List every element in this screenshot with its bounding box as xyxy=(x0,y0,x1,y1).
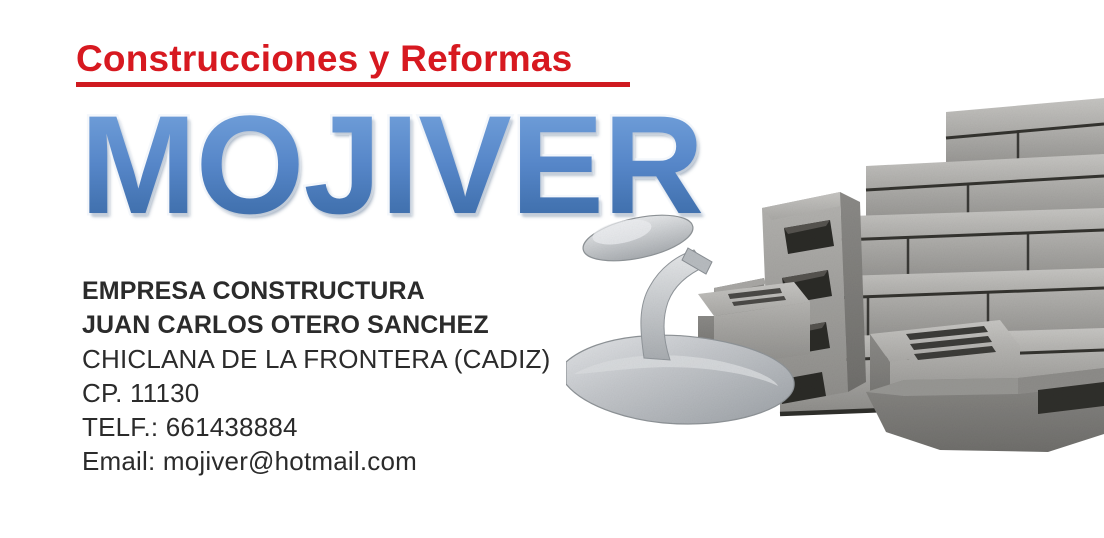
foreground-block-large xyxy=(870,320,1020,420)
hollow-block-pillar xyxy=(762,192,866,406)
block-course-4 xyxy=(776,268,1104,350)
contact-block: EMPRESA CONSTRUCTURA JUAN CARLOS OTERO S… xyxy=(82,274,551,478)
city-line: CHICLANA DE LA FRONTERA (CADIZ) xyxy=(82,342,551,376)
block-base-rubble xyxy=(866,368,1104,452)
email-line: Email: mojiver@hotmail.com xyxy=(82,444,551,478)
owner-name-line: JUAN CARLOS OTERO SANCHEZ xyxy=(82,308,551,342)
block-rubble-left xyxy=(662,342,738,418)
page-title: Construcciones y Reformas xyxy=(76,39,636,79)
side-block-left xyxy=(708,278,768,410)
block-course-5 xyxy=(780,328,1104,414)
block-course-3 xyxy=(786,208,1104,290)
headline-block: Construcciones y Reformas xyxy=(76,39,636,87)
logo-wordmark: MOJIVER xyxy=(80,94,703,236)
postal-code-line: CP. 11130 xyxy=(82,376,551,410)
foreground-block-small xyxy=(698,282,810,368)
block-course-top xyxy=(946,98,1104,178)
business-card: Construcciones y Reformas MOJIVER MOJIVE… xyxy=(0,0,1104,538)
company-type-line: EMPRESA CONSTRUCTURA xyxy=(82,274,551,308)
phone-line: TELF.: 661438884 xyxy=(82,410,551,444)
block-course-2 xyxy=(866,154,1104,234)
